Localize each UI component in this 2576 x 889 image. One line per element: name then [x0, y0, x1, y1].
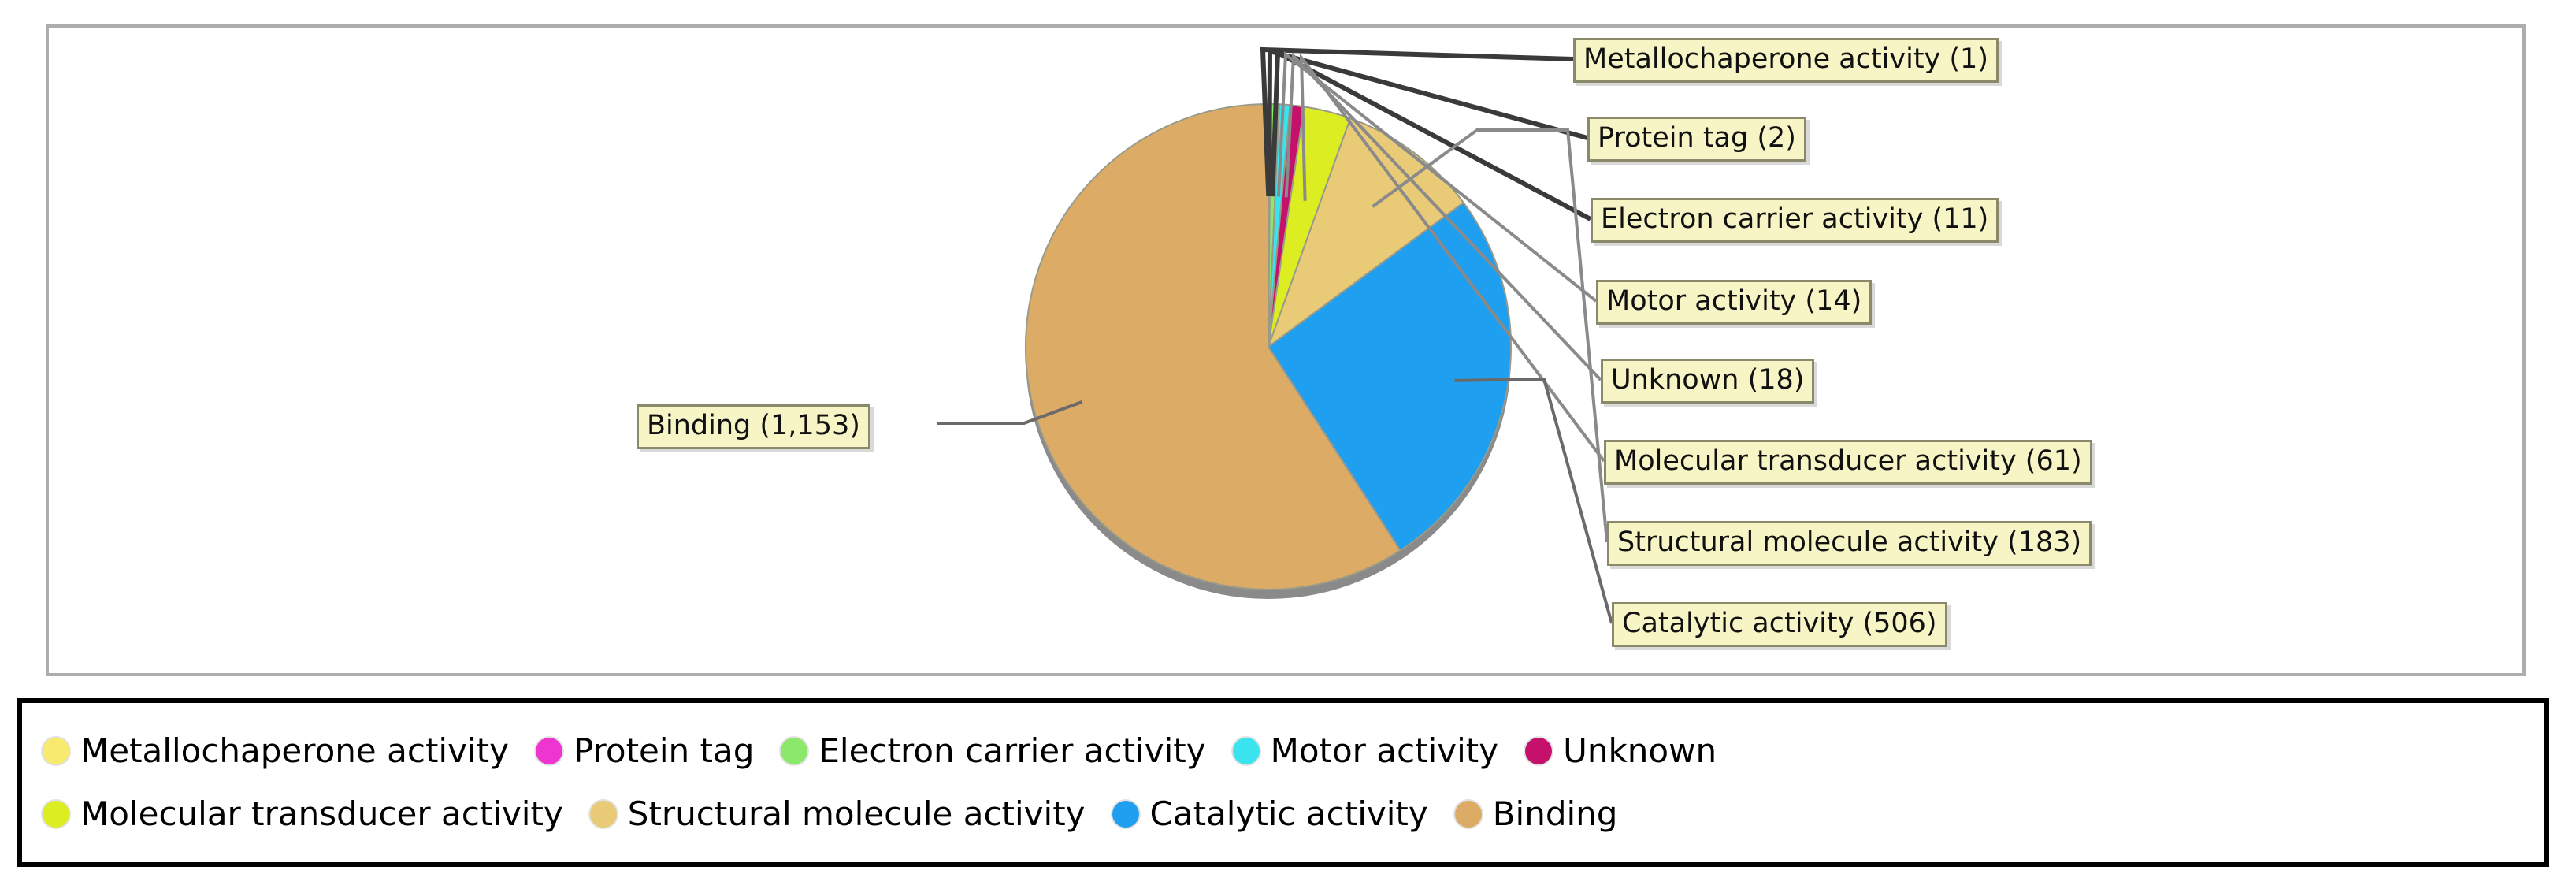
callout-protein-tag[interactable]: Protein tag (2): [1587, 117, 1806, 162]
legend-item-label: Metallochaperone activity: [80, 735, 509, 768]
callout-electron-carrier-activity[interactable]: Electron carrier activity (11): [1591, 198, 1999, 243]
legend-item-label: Unknown: [1563, 735, 1717, 768]
legend-item-label: Motor activity: [1271, 735, 1499, 768]
legend-swatch-icon: [1525, 738, 1552, 764]
callout-binding[interactable]: Binding (1,153): [637, 404, 870, 449]
legend-swatch-icon: [1112, 801, 1139, 828]
callout-metallochaperone-activity[interactable]: Metallochaperone activity (1): [1573, 38, 1999, 83]
callout-unknown[interactable]: Unknown (18): [1601, 359, 1814, 404]
legend-item-protein-tag[interactable]: Protein tag: [536, 735, 754, 768]
legend-swatch-icon: [1455, 801, 1482, 828]
legend-item-electron-carrier-activity[interactable]: Electron carrier activity: [781, 735, 1205, 768]
legend-swatch-icon: [1233, 738, 1260, 764]
callout-catalytic-activity[interactable]: Catalytic activity (506): [1612, 602, 1947, 647]
legend-swatch-icon: [43, 738, 69, 764]
callout-motor-activity[interactable]: Motor activity (14): [1596, 280, 1872, 325]
legend-item-binding[interactable]: Binding: [1455, 798, 1618, 831]
legend-swatch-icon: [590, 801, 617, 828]
legend-item-motor-activity[interactable]: Motor activity: [1233, 735, 1499, 768]
legend-item-label: Binding: [1493, 798, 1618, 831]
legend-item-structural-molecule-activity[interactable]: Structural molecule activity: [590, 798, 1086, 831]
legend-row-1: Metallochaperone activity Protein tag El…: [43, 720, 2524, 783]
legend-item-catalytic-activity[interactable]: Catalytic activity: [1112, 798, 1428, 831]
legend-row-2: Molecular transducer activity Structural…: [43, 783, 2524, 846]
legend-item-unknown[interactable]: Unknown: [1525, 735, 1717, 768]
legend-item-label: Electron carrier activity: [818, 735, 1205, 768]
legend-swatch-icon: [781, 738, 807, 764]
legend-item-label: Catalytic activity: [1150, 798, 1428, 831]
legend-item-molecular-transducer-activity[interactable]: Molecular transducer activity: [43, 798, 563, 831]
legend-swatch-icon: [536, 738, 562, 764]
chart-panel: [46, 24, 2526, 676]
legend: Metallochaperone activity Protein tag El…: [17, 698, 2549, 867]
legend-item-label: Structural molecule activity: [628, 798, 1086, 831]
legend-item-label: Protein tag: [573, 735, 754, 768]
callout-molecular-transducer-activity[interactable]: Molecular transducer activity (61): [1604, 440, 2092, 485]
legend-item-label: Molecular transducer activity: [80, 798, 563, 831]
legend-item-metallochaperone-activity[interactable]: Metallochaperone activity: [43, 735, 509, 768]
callout-structural-molecule-activity[interactable]: Structural molecule activity (183): [1607, 521, 2092, 566]
legend-swatch-icon: [43, 801, 69, 828]
